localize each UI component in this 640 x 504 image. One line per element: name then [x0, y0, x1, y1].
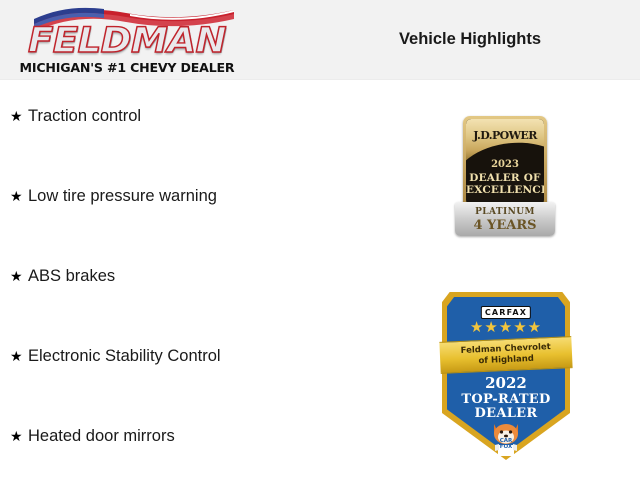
list-item: ★ ABS brakes [0, 264, 430, 344]
list-item-label: Heated door mirrors [28, 424, 175, 448]
jd-power-award-badge[interactable]: J.D.POWER 2023 DEALER OF EXCELLENCE PLAT… [455, 116, 555, 236]
jd-power-award-line-2: EXCELLENCE [466, 184, 544, 196]
carfax-mascot-tag-line-2: FOX [500, 444, 512, 450]
star-bullet-icon: ★ [10, 344, 28, 368]
list-item: ★ Electronic Stability Control [0, 344, 430, 424]
jd-power-brand-label: J.D.POWER [466, 129, 544, 142]
star-bullet-icon: ★ [10, 104, 28, 128]
carfax-year-label: 2022 [442, 374, 570, 392]
list-item-label: Traction control [28, 104, 141, 128]
page-title: Vehicle Highlights [320, 30, 620, 49]
jd-power-tier-label: PLATINUM [455, 207, 555, 217]
list-item-label: Low tire pressure warning [28, 184, 217, 208]
carfax-star-rating: ★★★★★ [442, 320, 570, 336]
jd-power-base-plate: PLATINUM 4 YEARS [455, 202, 555, 236]
dealer-logo-wordmark: FELDMAN [7, 22, 247, 60]
carfax-dealer-banner: Feldman Chevrolet of Highland [439, 336, 572, 374]
list-item: ★ Heated door mirrors [0, 424, 430, 504]
star-bullet-icon: ★ [10, 424, 28, 448]
list-item: ★ Low tire pressure warning [0, 184, 430, 264]
vehicle-highlights-list: ★ Traction control ★ Low tire pressure w… [0, 104, 430, 504]
list-item-label: ABS brakes [28, 264, 115, 288]
jd-power-plate: J.D.POWER 2023 DEALER OF EXCELLENCE [463, 116, 547, 208]
jd-power-year-label: 2023 [466, 159, 544, 170]
list-item: ★ Traction control [0, 104, 430, 184]
star-bullet-icon: ★ [10, 264, 28, 288]
carfax-top-rated-dealer-badge[interactable]: CARFAX ★★★★★ Feldman Chevrolet of Highla… [442, 292, 570, 460]
list-item-label: Electronic Stability Control [28, 344, 221, 368]
dealer-logo[interactable]: FELDMAN MICHIGAN'S #1 CHEVY DEALER [14, 4, 240, 78]
dealer-logo-tagline: MICHIGAN'S #1 CHEVY DEALER [14, 60, 240, 75]
star-bullet-icon: ★ [10, 184, 28, 208]
carfax-logo: CARFAX [481, 306, 531, 319]
page-header: FELDMAN MICHIGAN'S #1 CHEVY DEALER Vehic… [0, 0, 640, 80]
jd-power-plate-inner: J.D.POWER 2023 DEALER OF EXCELLENCE [466, 119, 544, 205]
jd-power-duration-label: 4 YEARS [455, 218, 555, 233]
carfax-award-line-1: TOP-RATED [442, 392, 570, 407]
carfax-mascot-tag: CAR FOX [500, 438, 513, 450]
jd-power-award-line-1: DEALER OF [466, 172, 544, 184]
award-badges-column: J.D.POWER 2023 DEALER OF EXCELLENCE PLAT… [430, 80, 640, 480]
